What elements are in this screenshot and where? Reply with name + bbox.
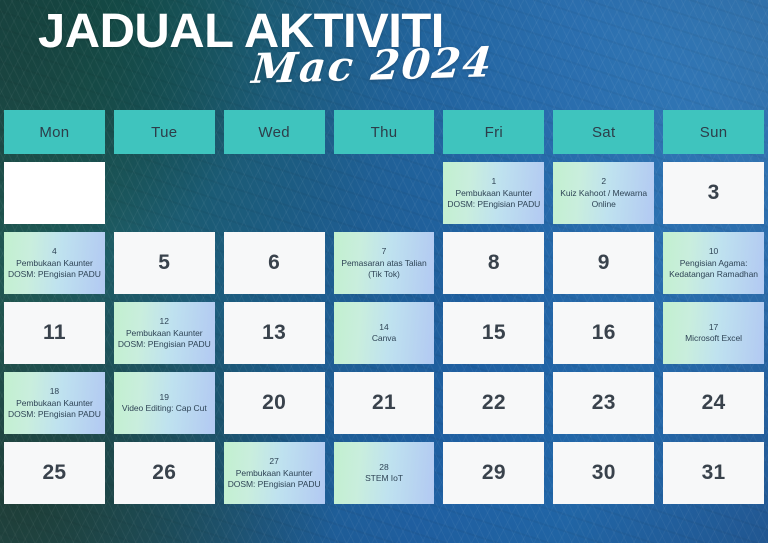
calendar-week-row: 18Pembukaan Kaunter DOSM: PEngisian PADU… (4, 372, 764, 434)
calendar-day-cell[interactable]: 6 (224, 232, 325, 294)
calendar-day-cell[interactable]: 8 (443, 232, 544, 294)
day-number: 29 (482, 461, 506, 484)
day-number: 14 (379, 322, 388, 333)
day-number: 9 (598, 251, 610, 274)
calendar-poster: JADUAL AKTIVITI Mac 2024 MonTueWedThuFri… (0, 0, 768, 543)
day-number: 18 (50, 386, 59, 397)
calendar-week-row: 252627Pembukaan Kaunter DOSM: PEngisian … (4, 442, 764, 504)
calendar-day-cell[interactable]: 9 (553, 232, 654, 294)
calendar-day-cell[interactable]: 28STEM IoT (334, 442, 435, 504)
calendar-empty-cell (4, 162, 105, 224)
day-number: 13 (262, 321, 286, 344)
calendar-grid: MonTueWedThuFriSatSun 1Pembukaan Kaunter… (4, 110, 764, 512)
day-of-week-header-row: MonTueWedThuFriSatSun (4, 110, 764, 154)
calendar-day-cell[interactable]: 19Video Editing: Cap Cut (114, 372, 215, 434)
day-number: 31 (702, 461, 726, 484)
day-number: 28 (379, 462, 388, 473)
calendar-day-cell[interactable]: 11 (4, 302, 105, 364)
day-number: 17 (709, 322, 718, 333)
day-event-label: Pembukaan Kaunter DOSM: PEngisian PADU (447, 188, 540, 210)
calendar-day-cell[interactable]: 12Pembukaan Kaunter DOSM: PEngisian PADU (114, 302, 215, 364)
day-number: 19 (160, 392, 169, 403)
day-number: 6 (268, 251, 280, 274)
calendar-day-cell[interactable]: 3 (663, 162, 764, 224)
calendar-day-cell[interactable]: 20 (224, 372, 325, 434)
calendar-day-cell[interactable]: 15 (443, 302, 544, 364)
day-number: 23 (592, 391, 616, 414)
calendar-day-cell[interactable]: 4Pembukaan Kaunter DOSM: PEngisian PADU (4, 232, 105, 294)
calendar-day-cell[interactable]: 27Pembukaan Kaunter DOSM: PEngisian PADU (224, 442, 325, 504)
day-of-week-header-sat: Sat (553, 110, 654, 154)
calendar-day-cell[interactable]: 16 (553, 302, 654, 364)
calendar-day-cell[interactable]: 14Canva (334, 302, 435, 364)
calendar-day-cell[interactable]: 21 (334, 372, 435, 434)
calendar-day-cell[interactable]: 18Pembukaan Kaunter DOSM: PEngisian PADU (4, 372, 105, 434)
day-event-label: STEM IoT (365, 473, 403, 484)
day-number: 16 (592, 321, 616, 344)
calendar-day-cell[interactable]: 2Kuiz Kahoot / Mewarna Online (553, 162, 654, 224)
day-of-week-header-thu: Thu (334, 110, 435, 154)
day-event-label: Microsoft Excel (685, 333, 742, 344)
calendar-day-cell[interactable]: 25 (4, 442, 105, 504)
day-number: 22 (482, 391, 506, 414)
day-event-label: Pembukaan Kaunter DOSM: PEngisian PADU (228, 468, 321, 490)
day-number: 20 (262, 391, 286, 414)
calendar-day-cell[interactable]: 5 (114, 232, 215, 294)
day-number: 7 (382, 246, 387, 257)
day-number: 8 (488, 251, 500, 274)
day-number: 24 (702, 391, 726, 414)
day-event-label: Pemasaran atas Talian (Tik Tok) (338, 258, 431, 280)
day-number: 2 (601, 176, 606, 187)
calendar-day-cell[interactable]: 1Pembukaan Kaunter DOSM: PEngisian PADU (443, 162, 544, 224)
day-number: 10 (709, 246, 718, 257)
day-number: 4 (52, 246, 57, 257)
day-number: 21 (372, 391, 396, 414)
calendar-day-cell[interactable]: 10Pengisian Agama: Kedatangan Ramadhan (663, 232, 764, 294)
calendar-empty-cell (334, 162, 435, 224)
day-number: 27 (269, 456, 278, 467)
calendar-empty-cell (114, 162, 215, 224)
day-of-week-header-fri: Fri (443, 110, 544, 154)
day-event-label: Video Editing: Cap Cut (122, 403, 207, 414)
day-number: 25 (42, 461, 66, 484)
day-number: 30 (592, 461, 616, 484)
day-of-week-header-sun: Sun (663, 110, 764, 154)
calendar-weeks: 1Pembukaan Kaunter DOSM: PEngisian PADU2… (4, 162, 764, 504)
calendar-day-cell[interactable]: 24 (663, 372, 764, 434)
day-event-label: Pengisian Agama: Kedatangan Ramadhan (667, 258, 760, 280)
day-event-label: Pembukaan Kaunter DOSM: PEngisian PADU (118, 328, 211, 350)
calendar-week-row: 4Pembukaan Kaunter DOSM: PEngisian PADU5… (4, 232, 764, 294)
calendar-day-cell[interactable]: 23 (553, 372, 654, 434)
day-number: 26 (152, 461, 176, 484)
day-event-label: Canva (372, 333, 396, 344)
calendar-week-row: 1Pembukaan Kaunter DOSM: PEngisian PADU2… (4, 162, 764, 224)
day-of-week-header-wed: Wed (224, 110, 325, 154)
day-number: 11 (43, 321, 66, 344)
day-of-week-header-mon: Mon (4, 110, 105, 154)
calendar-day-cell[interactable]: 30 (553, 442, 654, 504)
day-event-label: Pembukaan Kaunter DOSM: PEngisian PADU (8, 398, 101, 420)
page-subtitle-month-year: Mac 2024 (250, 42, 495, 90)
day-number: 3 (708, 181, 720, 204)
day-number: 15 (482, 321, 506, 344)
poster-header: JADUAL AKTIVITI Mac 2024 (0, 0, 768, 108)
day-event-label: Pembukaan Kaunter DOSM: PEngisian PADU (8, 258, 101, 280)
day-event-label: Kuiz Kahoot / Mewarna Online (557, 188, 650, 210)
calendar-day-cell[interactable]: 22 (443, 372, 544, 434)
calendar-empty-cell (224, 162, 325, 224)
day-number: 5 (158, 251, 170, 274)
calendar-day-cell[interactable]: 17Microsoft Excel (663, 302, 764, 364)
calendar-day-cell[interactable]: 13 (224, 302, 325, 364)
calendar-day-cell[interactable]: 29 (443, 442, 544, 504)
day-number: 12 (160, 316, 169, 327)
calendar-day-cell[interactable]: 26 (114, 442, 215, 504)
day-of-week-header-tue: Tue (114, 110, 215, 154)
day-number: 1 (491, 176, 496, 187)
calendar-day-cell[interactable]: 7Pemasaran atas Talian (Tik Tok) (334, 232, 435, 294)
calendar-week-row: 1112Pembukaan Kaunter DOSM: PEngisian PA… (4, 302, 764, 364)
calendar-day-cell[interactable]: 31 (663, 442, 764, 504)
